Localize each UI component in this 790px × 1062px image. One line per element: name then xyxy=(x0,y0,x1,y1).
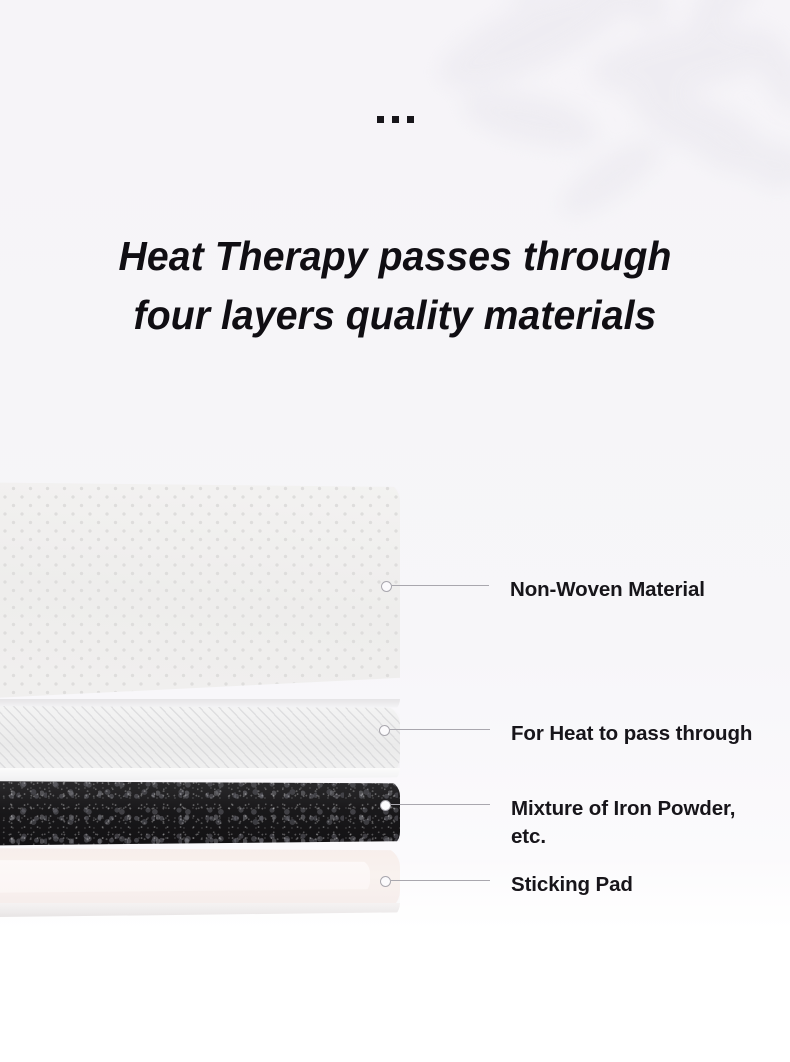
ellipsis-dot-2 xyxy=(392,116,399,123)
layer-sticking-pad-edge xyxy=(0,903,400,920)
callout-marker-icon xyxy=(381,581,392,592)
callout-marker-icon xyxy=(380,876,391,887)
callout-non-woven-material: Non-Woven Material xyxy=(381,576,705,604)
callout-marker-icon xyxy=(380,800,391,811)
callout-leader-line xyxy=(391,880,490,881)
callout-iron-powder-mixture: Mixture of Iron Powder, etc. xyxy=(380,795,735,852)
callout-label-non-woven-material: Non-Woven Material xyxy=(510,576,705,604)
page-title: Heat Therapy passes through four layers … xyxy=(18,227,772,343)
layer-iron-powder-mixture xyxy=(0,780,400,848)
callout-marker-icon xyxy=(379,725,390,736)
callout-label-sticking-pad: Sticking Pad xyxy=(511,871,633,899)
layer-sticking-pad-inner xyxy=(0,859,370,895)
callout-leader-line xyxy=(390,729,490,730)
layer-heat-pass-through-edge xyxy=(0,768,400,784)
layer-non-woven-material xyxy=(0,480,400,710)
ellipsis-dot-3 xyxy=(407,116,414,123)
layer-heat-pass-through xyxy=(0,705,400,777)
callout-leader-line xyxy=(392,585,489,586)
eyebrow-ellipsis xyxy=(0,103,790,133)
product-layer-infographic: Heat Therapy passes through four layers … xyxy=(0,0,790,1062)
page-title-line-2: four layers quality materials xyxy=(18,286,772,344)
page-title-line-1: Heat Therapy passes through xyxy=(118,233,671,279)
callout-sticking-pad: Sticking Pad xyxy=(380,871,633,899)
ellipsis-dot-1 xyxy=(377,116,384,123)
exploded-layer-stack xyxy=(0,455,470,925)
callout-label-iron-powder-mixture: Mixture of Iron Powder, etc. xyxy=(511,795,735,852)
callout-label-heat-pass-through: For Heat to pass through xyxy=(511,720,752,748)
callout-leader-line xyxy=(391,804,490,805)
callout-heat-pass-through: For Heat to pass through xyxy=(379,720,752,748)
